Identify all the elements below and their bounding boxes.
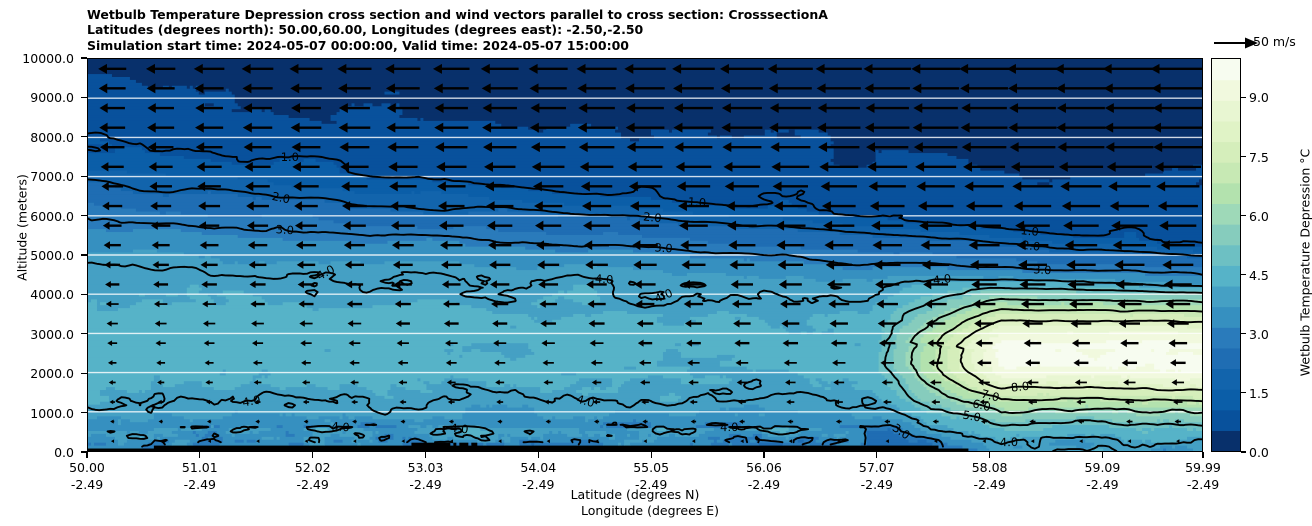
x-tick (86, 452, 87, 458)
x-tick (1202, 452, 1203, 458)
x-tick (425, 452, 426, 458)
colorbar-tick-label: 9.0 (1249, 90, 1269, 105)
y-tick-label: 1000.0 (2, 406, 74, 421)
colorbar-tick (1241, 333, 1246, 334)
y-tick (81, 373, 87, 374)
x-tick (651, 452, 652, 458)
x-tick-label: 54.04 -2.49 (493, 459, 583, 493)
x-tick-label: 58.08 -2.49 (945, 459, 1035, 493)
x-tick (312, 452, 313, 458)
y-tick (81, 176, 87, 177)
title-line-3: Simulation start time: 2024-05-07 00:00:… (87, 38, 629, 53)
y-tick-label: 0.0 (2, 445, 74, 460)
x-tick-label: 56.06 -2.49 (719, 459, 809, 493)
y-tick-label: 4000.0 (2, 287, 74, 302)
colorbar-tick (1241, 97, 1246, 98)
colorbar-tick (1241, 215, 1246, 216)
y-tick-label: 8000.0 (2, 130, 74, 145)
y-tick (81, 215, 87, 216)
x-tick (989, 452, 990, 458)
y-tick (81, 97, 87, 98)
wind-vector-field (88, 59, 1202, 451)
title-line-1: Wetbulb Temperature Depression cross sec… (87, 7, 828, 22)
x-tick-label: 51.01 -2.49 (155, 459, 245, 493)
colorbar-gradient (1212, 59, 1240, 451)
x-tick-label: 52.02 -2.49 (268, 459, 358, 493)
x-tick (538, 452, 539, 458)
colorbar-tick-label: 7.5 (1249, 150, 1269, 165)
colorbar-tick (1241, 156, 1246, 157)
x-axis-title-lon: Longitude (degrees E) (555, 503, 745, 518)
x-tick-label: 50.00 -2.49 (42, 459, 132, 493)
wind-reference-label: 50 m/s (1253, 34, 1296, 49)
x-tick-label: 59.99 -2.49 (1158, 459, 1248, 493)
y-tick-label: 6000.0 (2, 209, 74, 224)
y-tick-label: 2000.0 (2, 366, 74, 381)
x-tick (763, 452, 764, 458)
colorbar-tick-label: 3.0 (1249, 327, 1269, 342)
x-tick-label: 55.05 -2.49 (606, 459, 696, 493)
cross-section-plot: 1.01.01.02.02.02.03.03.03.03.04.04.04.04… (87, 58, 1203, 452)
y-tick (81, 136, 87, 137)
colorbar-title: Wetbulb Temperature Depression °C (1298, 148, 1312, 378)
x-tick-label: 53.03 -2.49 (380, 459, 470, 493)
colorbar-tick-label: 0.0 (1249, 445, 1269, 460)
colorbar-tick (1241, 451, 1246, 452)
y-tick (81, 412, 87, 413)
y-tick-label: 7000.0 (2, 169, 74, 184)
y-tick (81, 57, 87, 58)
colorbar-tick-label: 1.5 (1249, 386, 1269, 401)
colorbar-tick-label: 4.5 (1249, 268, 1269, 283)
x-tick (876, 452, 877, 458)
title-line-2: Latitudes (degrees north): 50.00,60.00, … (87, 22, 643, 37)
page-title: Wetbulb Temperature Depression cross sec… (87, 7, 1187, 53)
y-tick (81, 333, 87, 334)
x-tick (1102, 452, 1103, 458)
y-tick-label: 9000.0 (2, 90, 74, 105)
y-tick-label: 5000.0 (2, 248, 74, 263)
y-tick-label: 10000.0 (2, 51, 74, 66)
y-tick (81, 294, 87, 295)
y-tick (81, 254, 87, 255)
colorbar (1211, 58, 1241, 452)
colorbar-tick-label: 6.0 (1249, 209, 1269, 224)
colorbar-tick (1241, 274, 1246, 275)
colorbar-tick (1241, 392, 1246, 393)
x-tick (199, 452, 200, 458)
y-tick-label: 3000.0 (2, 327, 74, 342)
x-tick-label: 57.07 -2.49 (832, 459, 922, 493)
x-tick-label: 59.09 -2.49 (1057, 459, 1147, 493)
